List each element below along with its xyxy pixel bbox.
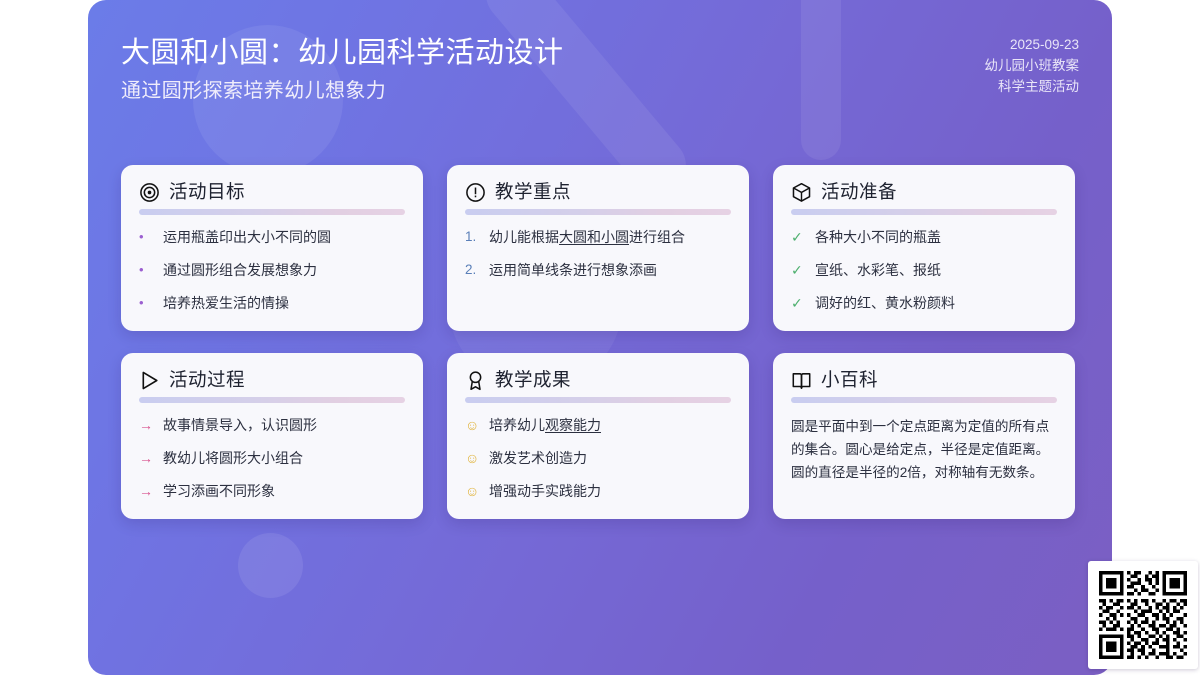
list-item-text: 故事情景导入，认识圆形 bbox=[163, 415, 317, 435]
list-item: •运用瓶盖印出大小不同的圆 bbox=[139, 227, 405, 247]
list-marker-dot: • bbox=[139, 293, 155, 313]
gradient-panel: 大圆和小圆：幼儿园科学活动设计 通过圆形探索培养幼儿想象力 2025-09-23… bbox=[88, 0, 1112, 675]
list-item-text: 激发艺术创造力 bbox=[489, 448, 587, 468]
list-marker-arrow: → bbox=[139, 481, 155, 501]
card-teaching-outcomes: 教学成果☺培养幼儿观察能力☺激发艺术创造力☺增强动手实践能力 bbox=[447, 353, 749, 519]
list-marker-check: ✓ bbox=[791, 260, 807, 280]
page-title: 大圆和小圆：幼儿园科学活动设计 bbox=[121, 29, 564, 71]
slide-canvas: 大圆和小圆：幼儿园科学活动设计 通过圆形探索培养幼儿想象力 2025-09-23… bbox=[0, 0, 1200, 675]
card-accent-bar bbox=[791, 209, 1057, 215]
list-item-text: 增强动手实践能力 bbox=[489, 481, 601, 501]
qr-code-icon bbox=[1099, 571, 1187, 659]
list-marker-number: 2. bbox=[465, 260, 481, 280]
card-teaching-focus: 教学重点1.幼儿能根据大圆和小圆进行组合2.运用简单线条进行想象添画 bbox=[447, 165, 749, 331]
list-item: •培养热爱生活的情操 bbox=[139, 293, 405, 313]
card-header: 活动目标 bbox=[139, 181, 405, 203]
list-item: →学习添画不同形象 bbox=[139, 481, 405, 501]
list-item: ☺增强动手实践能力 bbox=[465, 481, 731, 501]
card-activity-goals: 活动目标•运用瓶盖印出大小不同的圆•通过圆形组合发展想象力•培养热爱生活的情操 bbox=[121, 165, 423, 331]
card-accent-bar bbox=[465, 209, 731, 215]
list-marker-arrow: → bbox=[139, 448, 155, 468]
card-accent-bar bbox=[139, 397, 405, 403]
list-marker-arrow: → bbox=[139, 415, 155, 435]
header-meta: 2025-09-23 幼儿园小班教案 科学主题活动 bbox=[985, 34, 1080, 97]
card-title: 活动过程 bbox=[169, 369, 245, 391]
card-title: 活动准备 bbox=[821, 181, 897, 203]
card-item-list: →故事情景导入，认识圆形→教幼儿将圆形大小组合→学习添画不同形象 bbox=[139, 415, 405, 501]
card-header: 教学重点 bbox=[465, 181, 731, 203]
card-header: 小百科 bbox=[791, 369, 1057, 391]
page-subtitle: 通过圆形探索培养幼儿想象力 bbox=[121, 74, 386, 103]
target-icon bbox=[139, 182, 160, 203]
qr-code-panel[interactable] bbox=[1088, 561, 1198, 669]
list-item: ☺培养幼儿观察能力 bbox=[465, 415, 731, 435]
meta-date: 2025-09-23 bbox=[985, 34, 1080, 55]
card-item-list: 1.幼儿能根据大圆和小圆进行组合2.运用简单线条进行想象添画 bbox=[465, 227, 731, 280]
list-item: •通过圆形组合发展想象力 bbox=[139, 260, 405, 280]
list-marker-check: ✓ bbox=[791, 227, 807, 247]
list-item-text: 幼儿能根据大圆和小圆进行组合 bbox=[489, 227, 685, 247]
card-header: 活动准备 bbox=[791, 181, 1057, 203]
card-activity-process: 活动过程→故事情景导入，认识圆形→教幼儿将圆形大小组合→学习添画不同形象 bbox=[121, 353, 423, 519]
card-header: 活动过程 bbox=[139, 369, 405, 391]
list-marker-number: 1. bbox=[465, 227, 481, 247]
list-item-text: 宣纸、水彩笔、报纸 bbox=[815, 260, 941, 280]
list-item-text: 运用简单线条进行想象添画 bbox=[489, 260, 657, 280]
meta-theme: 科学主题活动 bbox=[985, 76, 1080, 97]
list-item-text: 学习添画不同形象 bbox=[163, 481, 275, 501]
list-item: 1.幼儿能根据大圆和小圆进行组合 bbox=[465, 227, 731, 247]
medal-icon bbox=[465, 370, 486, 391]
decorative-circle-small bbox=[238, 533, 303, 598]
card-paragraph: 圆是平面中到一个定点距离为定值的所有点的集合。圆心是给定点，半径是定值距离。圆的… bbox=[791, 415, 1057, 484]
card-title: 教学重点 bbox=[495, 181, 571, 203]
list-marker-smile: ☺ bbox=[465, 481, 481, 501]
card-item-list: ✓各种大小不同的瓶盖✓宣纸、水彩笔、报纸✓调好的红、黄水粉颜料 bbox=[791, 227, 1057, 313]
list-marker-dot: • bbox=[139, 227, 155, 247]
open-book-icon bbox=[791, 370, 812, 391]
list-item-text: 教幼儿将圆形大小组合 bbox=[163, 448, 303, 468]
list-marker-smile: ☺ bbox=[465, 448, 481, 468]
card-item-list: •运用瓶盖印出大小不同的圆•通过圆形组合发展想象力•培养热爱生活的情操 bbox=[139, 227, 405, 313]
card-header: 教学成果 bbox=[465, 369, 731, 391]
card-item-list: ☺培养幼儿观察能力☺激发艺术创造力☺增强动手实践能力 bbox=[465, 415, 731, 501]
list-item-text: 调好的红、黄水粉颜料 bbox=[815, 293, 955, 313]
list-marker-check: ✓ bbox=[791, 293, 807, 313]
list-item: →教幼儿将圆形大小组合 bbox=[139, 448, 405, 468]
slide-header: 大圆和小圆：幼儿园科学活动设计 通过圆形探索培养幼儿想象力 2025-09-23… bbox=[88, 0, 1112, 150]
list-item: ✓各种大小不同的瓶盖 bbox=[791, 227, 1057, 247]
card-grid: 活动目标•运用瓶盖印出大小不同的圆•通过圆形组合发展想象力•培养热爱生活的情操教… bbox=[121, 165, 1079, 519]
card-activity-preparation: 活动准备✓各种大小不同的瓶盖✓宣纸、水彩笔、报纸✓调好的红、黄水粉颜料 bbox=[773, 165, 1075, 331]
card-encyclopedia: 小百科圆是平面中到一个定点距离为定值的所有点的集合。圆心是给定点，半径是定值距离… bbox=[773, 353, 1075, 519]
card-accent-bar bbox=[465, 397, 731, 403]
list-item: ✓调好的红、黄水粉颜料 bbox=[791, 293, 1057, 313]
exclamation-circle-icon bbox=[465, 182, 486, 203]
list-marker-dot: • bbox=[139, 260, 155, 280]
play-triangle-icon bbox=[139, 370, 160, 391]
list-item-text: 通过圆形组合发展想象力 bbox=[163, 260, 317, 280]
card-title: 活动目标 bbox=[169, 181, 245, 203]
list-item: →故事情景导入，认识圆形 bbox=[139, 415, 405, 435]
cube-icon bbox=[791, 182, 812, 203]
list-item-text: 培养幼儿观察能力 bbox=[489, 415, 601, 435]
list-item-text: 各种大小不同的瓶盖 bbox=[815, 227, 941, 247]
card-accent-bar bbox=[791, 397, 1057, 403]
list-item: ☺激发艺术创造力 bbox=[465, 448, 731, 468]
card-title: 小百科 bbox=[821, 369, 878, 391]
card-title: 教学成果 bbox=[495, 369, 571, 391]
card-accent-bar bbox=[139, 209, 405, 215]
list-item-text: 运用瓶盖印出大小不同的圆 bbox=[163, 227, 331, 247]
list-marker-smile: ☺ bbox=[465, 415, 481, 435]
list-item: 2.运用简单线条进行想象添画 bbox=[465, 260, 731, 280]
list-item: ✓宣纸、水彩笔、报纸 bbox=[791, 260, 1057, 280]
meta-category: 幼儿园小班教案 bbox=[985, 55, 1080, 76]
list-item-text: 培养热爱生活的情操 bbox=[163, 293, 289, 313]
